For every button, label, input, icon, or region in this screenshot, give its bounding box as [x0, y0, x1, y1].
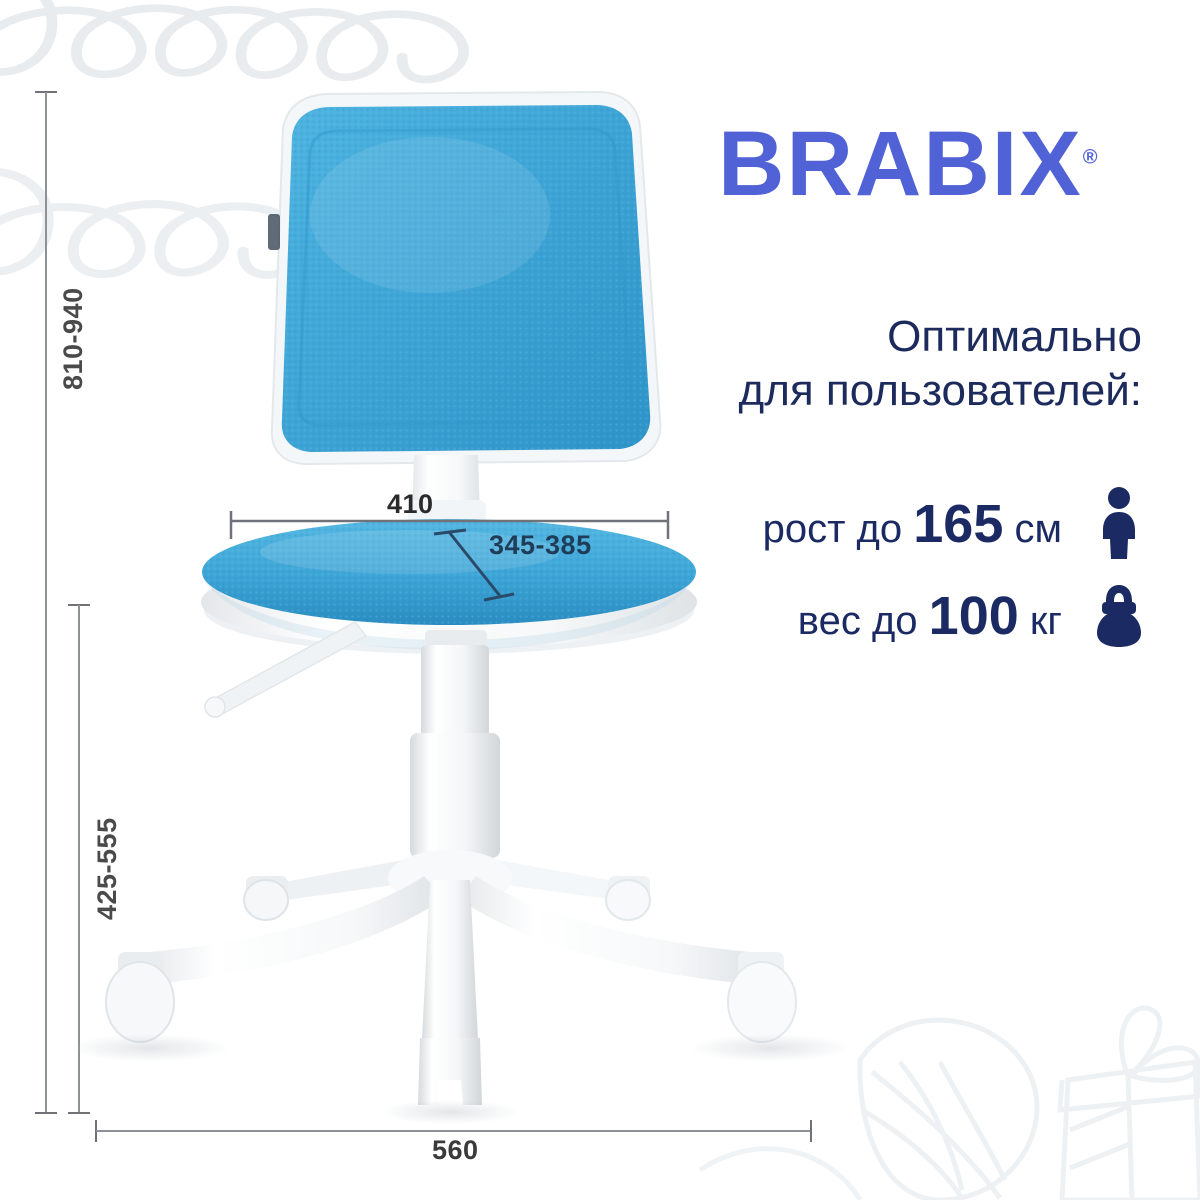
product-infographic: 810-940 425-555 560	[0, 0, 1200, 1200]
spec-height-prefix: рост до	[763, 507, 903, 551]
spec-height-value: 165	[913, 494, 1003, 554]
spec-weight-value: 100	[929, 586, 1019, 646]
base-leg-front-center-foot	[418, 1038, 482, 1105]
headline-line-1: Оптимально	[622, 310, 1142, 364]
spec-weight-text: вес до 100 кг	[798, 585, 1062, 647]
gas-lift-upper	[421, 645, 489, 740]
dim-label-seat-width: 410	[387, 489, 434, 520]
backrest-highlight	[310, 137, 550, 293]
backrest-side-tag	[268, 214, 280, 250]
person-icon	[1096, 488, 1142, 560]
headline: Оптимально для пользователей:	[622, 310, 1142, 417]
brabix-logo: BRABIX®	[718, 112, 1097, 217]
spec-weight-unit: кг	[1030, 599, 1062, 643]
base-leg-front-center	[422, 880, 478, 1040]
spec-height-unit: см	[1015, 507, 1063, 551]
caster-rear-right	[606, 876, 650, 920]
caster-front-left	[106, 952, 174, 1042]
lever-knob	[205, 697, 225, 717]
brabix-logo-text: BRABIX	[718, 113, 1083, 215]
caster-rear-left	[244, 876, 288, 920]
headline-line-2: для пользователей:	[622, 364, 1142, 418]
dim-label-seat-depth: 345-385	[489, 530, 592, 561]
ground-shadow-right	[690, 1034, 850, 1062]
ground-shadow-left	[70, 1034, 230, 1062]
ground-shadow-center	[380, 1100, 520, 1124]
caster-front-right	[728, 952, 796, 1042]
gas-lift-lower	[410, 733, 500, 858]
spec-row-height: рост до 165 см	[763, 488, 1142, 560]
kettlebell-icon	[1096, 580, 1142, 652]
gas-lift-collar	[425, 630, 487, 646]
spec-weight-prefix: вес до	[798, 599, 918, 643]
registered-trademark-icon: ®	[1083, 146, 1098, 168]
spec-row-weight: вес до 100 кг	[798, 580, 1142, 652]
spec-height-text: рост до 165 см	[763, 493, 1062, 555]
